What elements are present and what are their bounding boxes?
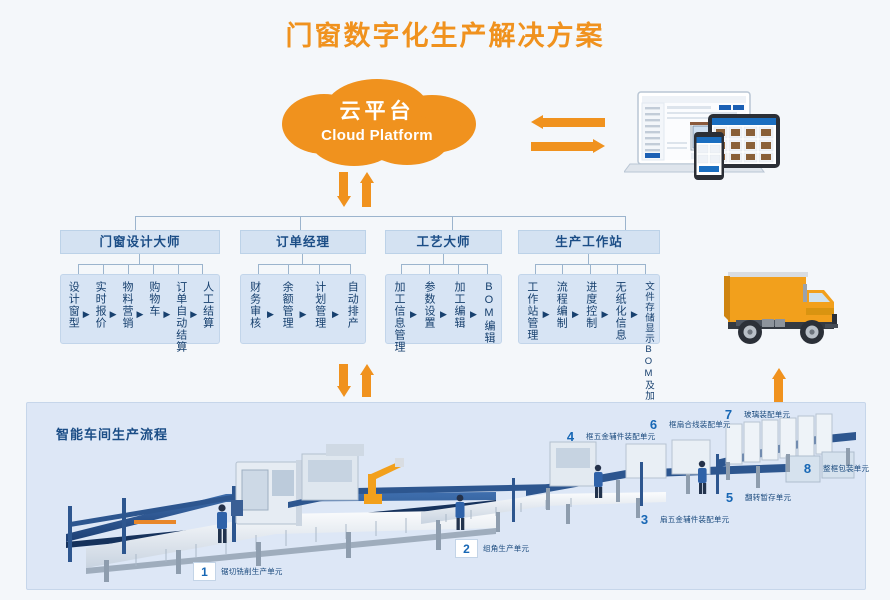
module-step[interactable]: 无纸化信息 [613, 281, 626, 341]
arrow-stem [774, 379, 783, 403]
unit-number: 7 [718, 406, 739, 423]
module-steps: 工作站管理 ▶ 流程编制 ▶ 进度控制 ▶ 无纸化信息 ▶ 文件存储显示BOM及… [518, 274, 660, 344]
module-production-workstation[interactable]: 生产工作站 工作站管理 ▶ 流程编制 ▶ 进度控制 ▶ 无纸化信息 ▶ 文件存储… [518, 230, 660, 344]
arrow-stem [339, 364, 348, 386]
module-step[interactable]: 实时报价 [93, 281, 106, 329]
chevron-right-icon: ▶ [163, 309, 170, 320]
module-spine [60, 254, 220, 274]
module-step[interactable]: 加工信息管理 [392, 281, 405, 353]
module-process-master[interactable]: 工艺大师 加工信息管理 ▶ 参数设置 ▶ 加工编辑 ▶ BOM编辑 [385, 230, 502, 344]
module-step[interactable]: 人工结算 [201, 281, 214, 329]
arrow-head-left-icon [531, 115, 543, 129]
unit-label: 扇五金辅件装配单元 [660, 514, 729, 525]
arrow-cloud-down [337, 172, 350, 207]
arrow-stem [339, 172, 348, 196]
module-door-window-design-master[interactable]: 门窗设计大师 设计窗型 ▶ 实时报价 ▶ 物料营销 ▶ 购物车 ▶ 订单自动结算… [60, 230, 220, 344]
module-title: 生产工作站 [518, 230, 660, 254]
delivery-truck [706, 262, 876, 362]
module-spine [240, 254, 366, 274]
unit-label: 玻璃装配单元 [744, 409, 790, 420]
module-step[interactable]: 工作站管理 [525, 281, 538, 341]
module-order-manager[interactable]: 订单经理 财务审核 ▶ 余额管理 ▶ 计划管理 ▶ 自动排产 [240, 230, 366, 344]
module-step[interactable]: 进度控制 [584, 281, 597, 329]
unit-label: 翻转暂存单元 [745, 492, 791, 503]
cloud-platform: 云平台 Cloud Platform [262, 78, 492, 170]
arrow-cloud-to-devices-right [531, 139, 605, 153]
arrow-stem [543, 118, 605, 127]
chevron-right-icon: ▶ [631, 309, 638, 320]
workshop-unit-marker-2[interactable]: 2 组角生产单元 [455, 539, 529, 558]
tree-horizontal-line [135, 216, 625, 217]
chevron-right-icon: ▶ [601, 309, 608, 320]
arrow-cloud-to-devices-left [531, 115, 605, 129]
chevron-right-icon: ▶ [300, 309, 307, 320]
module-step[interactable]: 计划管理 [313, 281, 326, 329]
module-title: 工艺大师 [385, 230, 502, 254]
module-step[interactable]: 流程编制 [554, 281, 567, 329]
workshop-unit-marker-8[interactable]: 8 整框包装单元 [797, 460, 869, 477]
arrow-stem [362, 375, 371, 397]
chevron-right-icon: ▶ [110, 309, 117, 320]
chevron-right-icon: ▶ [190, 309, 197, 320]
module-step[interactable]: 购物车 [147, 281, 160, 317]
module-step[interactable]: 加工编辑 [452, 281, 465, 329]
unit-label: 整框包装单元 [823, 463, 869, 474]
unit-number: 2 [455, 539, 478, 558]
unit-number: 8 [797, 460, 818, 477]
module-step[interactable]: 自动排产 [345, 281, 358, 329]
module-title: 门窗设计大师 [60, 230, 220, 254]
workshop-unit-marker-3[interactable]: 3 扇五金辅件装配单元 [634, 511, 729, 528]
arrow-head-down-icon [337, 386, 351, 397]
unit-number: 3 [634, 511, 655, 528]
arrow-head-right-icon [593, 139, 605, 153]
arrow-modules-down [337, 364, 350, 397]
module-step[interactable]: 设计窗型 [66, 281, 79, 329]
chevron-right-icon: ▶ [470, 309, 477, 320]
chevron-right-icon: ▶ [267, 309, 274, 320]
module-step[interactable]: 订单自动结算 [174, 281, 187, 353]
module-spine [518, 254, 660, 274]
unit-number: 1 [193, 562, 216, 581]
arrow-head-up-icon [360, 364, 374, 375]
chevron-right-icon: ▶ [440, 309, 447, 320]
module-step[interactable]: 参数设置 [422, 281, 435, 329]
arrow-cloud-up [360, 172, 373, 207]
module-steps: 设计窗型 ▶ 实时报价 ▶ 物料营销 ▶ 购物车 ▶ 订单自动结算 ▶ 人工结算 [60, 274, 220, 344]
module-step[interactable]: 余额管理 [280, 281, 293, 329]
workshop-unit-marker-5[interactable]: 5 翻转暂存单元 [719, 489, 791, 506]
page-title: 门窗数字化生产解决方案 [0, 14, 890, 53]
workshop-unit-marker-1[interactable]: 1 锯切铣削生产单元 [193, 562, 283, 581]
module-step[interactable]: 文件存储显示BOM及加工 [643, 281, 653, 412]
chevron-right-icon: ▶ [572, 309, 579, 320]
chevron-right-icon: ▶ [332, 309, 339, 320]
unit-number: 6 [643, 416, 664, 433]
arrow-modules-up [360, 364, 373, 397]
arrow-stem [531, 142, 593, 151]
unit-label: 锯切铣削生产单元 [221, 566, 283, 577]
workshop-unit-marker-7[interactable]: 7 玻璃装配单元 [718, 406, 790, 423]
unit-label: 组角生产单元 [483, 543, 529, 554]
module-step[interactable]: 物料营销 [120, 281, 133, 329]
unit-number: 4 [560, 428, 581, 445]
module-steps: 加工信息管理 ▶ 参数设置 ▶ 加工编辑 ▶ BOM编辑 [385, 274, 502, 344]
solution-diagram: 门窗数字化生产解决方案 云平台 Cloud Platform [0, 0, 890, 600]
module-steps: 财务审核 ▶ 余额管理 ▶ 计划管理 ▶ 自动排产 [240, 274, 366, 344]
module-title: 订单经理 [240, 230, 366, 254]
module-connector-tree [60, 204, 660, 232]
chevron-right-icon: ▶ [410, 309, 417, 320]
arrow-head-up-icon [360, 172, 374, 183]
device-mockup [624, 82, 788, 180]
unit-number: 5 [719, 489, 740, 506]
chevron-right-icon: ▶ [543, 309, 550, 320]
arrow-head-up-icon [772, 368, 786, 379]
chevron-right-icon: ▶ [83, 309, 90, 320]
workshop-unit-marker-4[interactable]: 4 框五金辅件装配单元 [560, 428, 655, 445]
module-step[interactable]: 财务审核 [248, 281, 261, 329]
chevron-right-icon: ▶ [137, 309, 144, 320]
arrow-truck-up [772, 368, 785, 403]
module-step[interactable]: BOM编辑 [482, 281, 495, 344]
module-spine [385, 254, 502, 274]
